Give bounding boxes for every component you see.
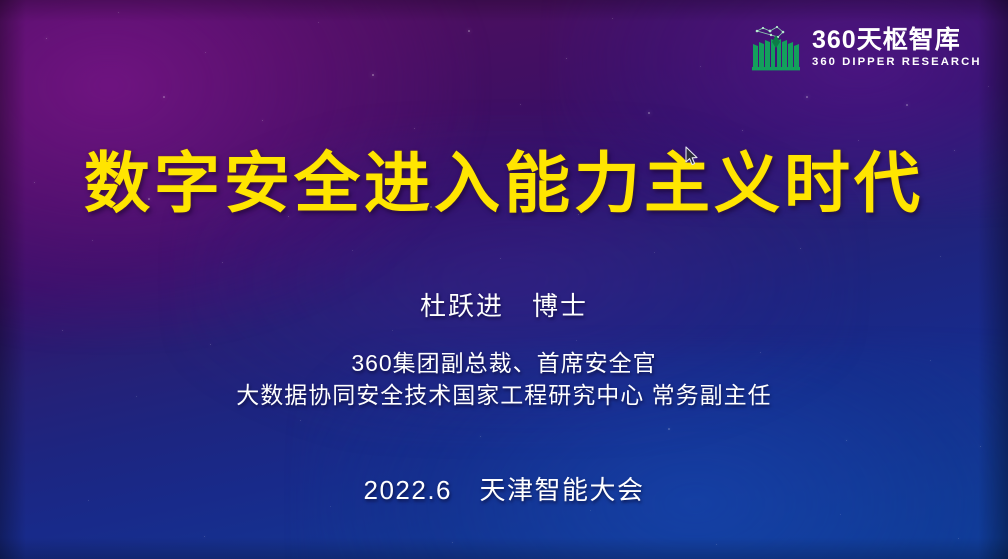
slide-title: 数字安全进入能力主义时代 bbox=[0, 147, 1008, 221]
logo-brand-cn: 360天枢智库 bbox=[812, 25, 990, 54]
brand-logo: 360天枢智库 360 DIPPER RESEARCH bbox=[749, 22, 990, 72]
logo-brand-en: 360 DIPPER RESEARCH bbox=[812, 57, 982, 68]
logo-wordmark: 360天枢智库 360 DIPPER RESEARCH bbox=[812, 25, 990, 68]
speaker-name: 杜跃进 博士 bbox=[0, 286, 1008, 323]
presentation-slide: 360天枢智库 360 DIPPER RESEARCH 数字安全进入能力主义时代… bbox=[0, 0, 1008, 559]
affiliation-line: 大数据协同安全技术国家工程研究中心 常务副主任 bbox=[0, 380, 1008, 412]
svg-text:360天枢智库: 360天枢智库 bbox=[812, 25, 961, 54]
speaker-affiliation: 360集团副总裁、首席安全官大数据协同安全技术国家工程研究中心 常务副主任 bbox=[0, 348, 1008, 411]
affiliation-line: 360集团副总裁、首席安全官 bbox=[0, 348, 1008, 380]
dipper-book-logo-icon bbox=[749, 22, 803, 72]
event-info: 2022.6 天津智能大会 bbox=[0, 470, 1008, 507]
